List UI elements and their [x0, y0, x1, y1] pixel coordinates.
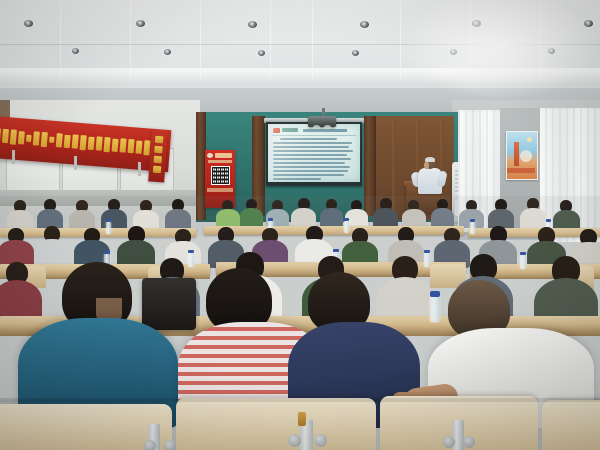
water-bottle — [424, 253, 430, 267]
attendee-torso — [373, 208, 398, 228]
attendee-torso — [69, 210, 95, 230]
laptop-bag — [142, 278, 196, 330]
ceiling-seam — [200, 0, 201, 78]
seat-hinge — [288, 434, 301, 447]
water-bottle — [344, 221, 349, 233]
attendee-torso — [320, 208, 343, 227]
attendee-torso — [165, 209, 191, 230]
downlight-icon — [248, 21, 257, 28]
bottle-cap — [546, 219, 551, 222]
attendee-torso — [291, 208, 316, 228]
water-bottle — [520, 255, 526, 269]
downlight-icon — [136, 20, 145, 27]
downlight-icon — [72, 48, 79, 54]
ceiling-seam — [270, 0, 271, 78]
seat-hinge — [443, 436, 455, 448]
water-bottle — [430, 296, 440, 322]
attendee-torso — [0, 280, 42, 320]
projector — [308, 116, 336, 127]
desk-row — [204, 226, 464, 235]
auditorium-seat-back — [176, 398, 376, 450]
downlight-icon — [352, 50, 359, 56]
banner-hanger — [12, 150, 15, 164]
standee-subtitle — [208, 160, 232, 163]
ceiling-seam — [60, 0, 61, 78]
seat-hinge — [463, 436, 475, 448]
seat-row-shadow — [0, 398, 600, 402]
seat-hinge — [314, 434, 327, 447]
seat-number-tag — [298, 412, 306, 426]
water-bottle — [470, 222, 475, 234]
water-bottle — [106, 222, 111, 234]
attendee-torso — [240, 208, 263, 227]
downlight-icon — [24, 20, 33, 27]
bottle-cap — [188, 250, 194, 253]
ceiling-seam — [312, 0, 313, 78]
downlight-icon — [164, 49, 171, 55]
standee-footer — [207, 188, 233, 192]
bottle-cap — [520, 252, 526, 255]
bottle-cap — [470, 219, 475, 222]
bottle-cap — [106, 219, 111, 222]
projector-lens-icon — [313, 125, 320, 129]
seminar-room-photo — [0, 0, 600, 450]
attendee-torso — [216, 209, 240, 227]
downlight-icon — [360, 21, 369, 28]
ceiling — [0, 0, 600, 112]
auditorium-seat-back — [542, 400, 600, 450]
ceiling-seam — [130, 0, 131, 78]
bottle-cap — [268, 218, 273, 221]
projector-lens-icon — [324, 125, 331, 129]
poster-sun-icon — [527, 137, 532, 142]
screen-glare — [268, 124, 360, 182]
poster-banner-motif — [507, 168, 535, 173]
seat-hinge — [144, 440, 156, 450]
attendee-torso — [101, 209, 127, 230]
standee-title — [215, 153, 232, 158]
attendee-torso — [431, 208, 454, 228]
seat-hinge — [164, 440, 176, 450]
banner-hanger — [74, 156, 77, 170]
bottle-cap — [424, 250, 430, 253]
poster-tower-motif — [514, 142, 519, 166]
presenter-face — [424, 162, 429, 169]
bottle-cap — [333, 249, 339, 252]
bottle-cap — [344, 218, 349, 221]
banner-hanger — [138, 162, 141, 176]
bottle-cap — [104, 251, 110, 254]
poster-figure-motif — [520, 150, 532, 162]
attendee-torso — [34, 239, 70, 267]
qr-code — [211, 166, 230, 185]
bottle-cap — [430, 291, 440, 297]
attendee-torso — [7, 210, 33, 230]
downlight-icon — [258, 50, 265, 56]
water-bottle — [188, 253, 194, 267]
standee-logo-icon — [207, 153, 213, 158]
banner-text — [0, 124, 167, 160]
